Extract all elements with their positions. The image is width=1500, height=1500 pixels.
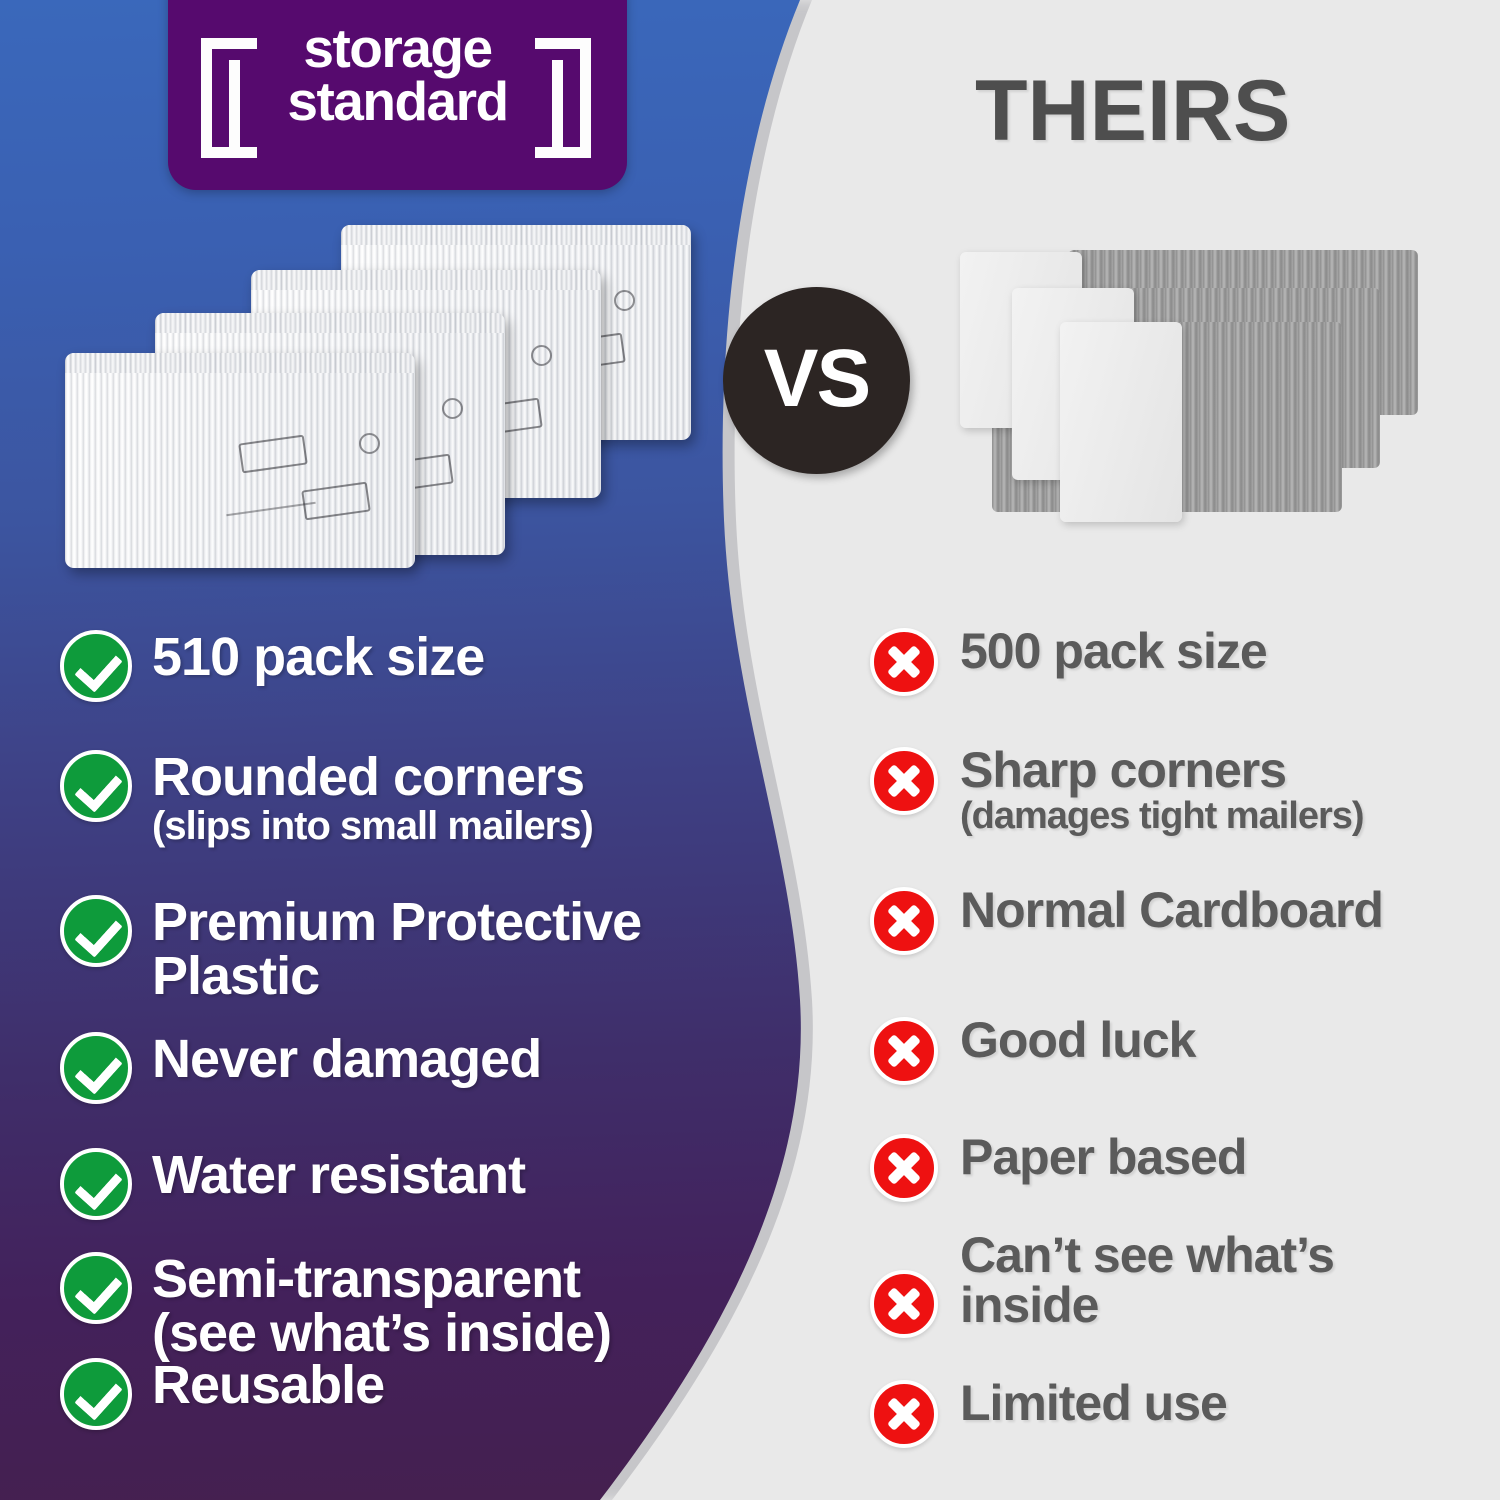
brand-logo-line2: standard: [168, 75, 627, 128]
list-item: Reusable: [60, 1358, 384, 1430]
feature-sublabel: (damages tight mailers): [960, 797, 1364, 835]
list-item: 510 pack size: [60, 630, 484, 702]
check-icon: [60, 1358, 132, 1430]
list-item: Water resistant: [60, 1148, 525, 1220]
cross-icon: [868, 1378, 940, 1450]
list-item: Never damaged: [60, 1032, 541, 1104]
check-icon: [60, 1252, 132, 1324]
cross-icon: [868, 626, 940, 698]
feature-label: Normal Cardboard: [960, 885, 1383, 935]
list-item: Semi-transparent (see what’s inside): [60, 1252, 611, 1360]
cross-icon: [868, 1015, 940, 1087]
feature-label: Semi-transparent: [152, 1252, 611, 1306]
list-item: Premium Protective Plastic: [60, 895, 641, 1003]
vs-badge-label: VS: [764, 338, 869, 420]
list-item: Can’t see what’s inside: [868, 1230, 1334, 1340]
brand-logo-line1: storage: [168, 22, 627, 75]
list-item: Rounded corners (slips into small mailer…: [60, 750, 593, 846]
feature-label: 510 pack size: [152, 630, 484, 684]
list-item: Paper based: [868, 1132, 1246, 1204]
feature-label: 500 pack size: [960, 626, 1267, 676]
check-icon: [60, 750, 132, 822]
list-item: 500 pack size: [868, 626, 1267, 698]
feature-sublabel: (slips into small mailers): [152, 806, 593, 846]
feature-label: Rounded corners: [152, 750, 593, 804]
list-item: Good luck: [868, 1015, 1195, 1087]
check-icon: [60, 895, 132, 967]
list-item: Limited use: [868, 1378, 1227, 1450]
theirs-heading: THEIRS: [975, 62, 1290, 161]
vs-badge: VS: [723, 287, 910, 474]
comparison-infographic: storage standard THEIRS VS: [0, 0, 1500, 1500]
our-product-image: [55, 225, 735, 570]
check-icon: [60, 1032, 132, 1104]
feature-label: Water resistant: [152, 1148, 525, 1202]
feature-label: Reusable: [152, 1358, 384, 1412]
check-icon: [60, 1148, 132, 1220]
feature-label: Limited use: [960, 1378, 1227, 1428]
feature-label: Can’t see what’s: [960, 1230, 1334, 1280]
feature-label-line2: inside: [960, 1280, 1334, 1330]
brand-logo-text: storage standard: [168, 22, 627, 129]
cross-icon: [868, 1132, 940, 1204]
feature-label: Good luck: [960, 1015, 1195, 1065]
cross-icon: [868, 745, 940, 817]
feature-label-line2: Plastic: [152, 949, 641, 1003]
competitor-product-image: [950, 240, 1430, 530]
cross-icon: [868, 885, 940, 957]
feature-sublabel: (see what’s inside): [152, 1306, 611, 1360]
list-item: Normal Cardboard: [868, 885, 1383, 957]
check-icon: [60, 630, 132, 702]
feature-label: Never damaged: [152, 1032, 541, 1086]
list-item: Sharp corners (damages tight mailers): [868, 745, 1364, 835]
feature-label: Sharp corners: [960, 745, 1364, 795]
cross-icon: [868, 1268, 940, 1340]
feature-label: Paper based: [960, 1132, 1246, 1182]
feature-label: Premium Protective: [152, 895, 641, 949]
